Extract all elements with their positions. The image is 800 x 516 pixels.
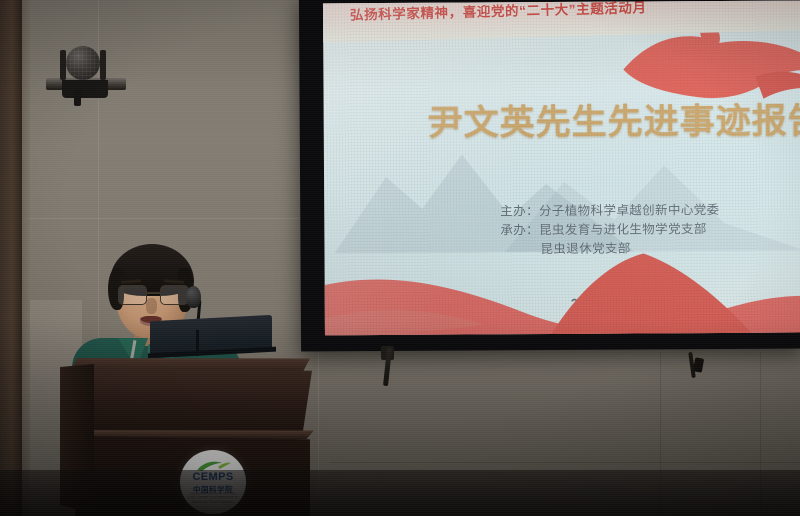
camera-lens-dome — [66, 46, 100, 80]
wall-seam — [330, 462, 800, 463]
glasses-lens-left — [118, 285, 147, 305]
wall-pilaster-edge — [22, 0, 30, 516]
camera-yoke-right — [100, 50, 106, 80]
floor-shadow-band — [0, 470, 800, 516]
glasses-bridge — [145, 292, 160, 294]
red-mountain-graphic-icon — [323, 226, 800, 335]
projection-screen-frame: 弘扬科学家精神，喜迎党的“二十大”主题活动月 尹文英先生先进事迹报告会 主办：分… — [299, 0, 800, 352]
projection-screen: 弘扬科学家精神，喜迎党的“二十大”主题活动月 尹文英先生先进事迹报告会 主办：分… — [323, 0, 800, 335]
slide-banner-text: 弘扬科学家精神，喜迎党的“二十大”主题活动月 — [349, 0, 646, 23]
wall-seam — [0, 218, 320, 219]
podium-front-panel — [68, 368, 312, 436]
camera-yoke-left — [60, 50, 66, 80]
camera-wall-mount — [74, 90, 81, 106]
presenter-nose — [146, 298, 157, 314]
glasses-lens-right — [160, 285, 189, 305]
ptz-camera — [38, 36, 134, 98]
presentation-slide: 弘扬科学家精神，喜迎党的“二十大”主题活动月 尹文英先生先进事迹报告会 主办：分… — [323, 0, 800, 335]
slide-title: 尹文英先生先进事迹报告会 — [428, 92, 800, 146]
camera-base — [62, 80, 108, 98]
presentation-photo: 弘扬科学家精神，喜迎党的“二十大”主题活动月 尹文英先生先进事迹报告会 主办：分… — [0, 0, 800, 516]
wall-pilaster — [0, 0, 22, 516]
microphone-icon — [186, 286, 201, 308]
slide-organizer-line: 主办：分子植物科学卓越创新中心党委 — [500, 201, 719, 221]
